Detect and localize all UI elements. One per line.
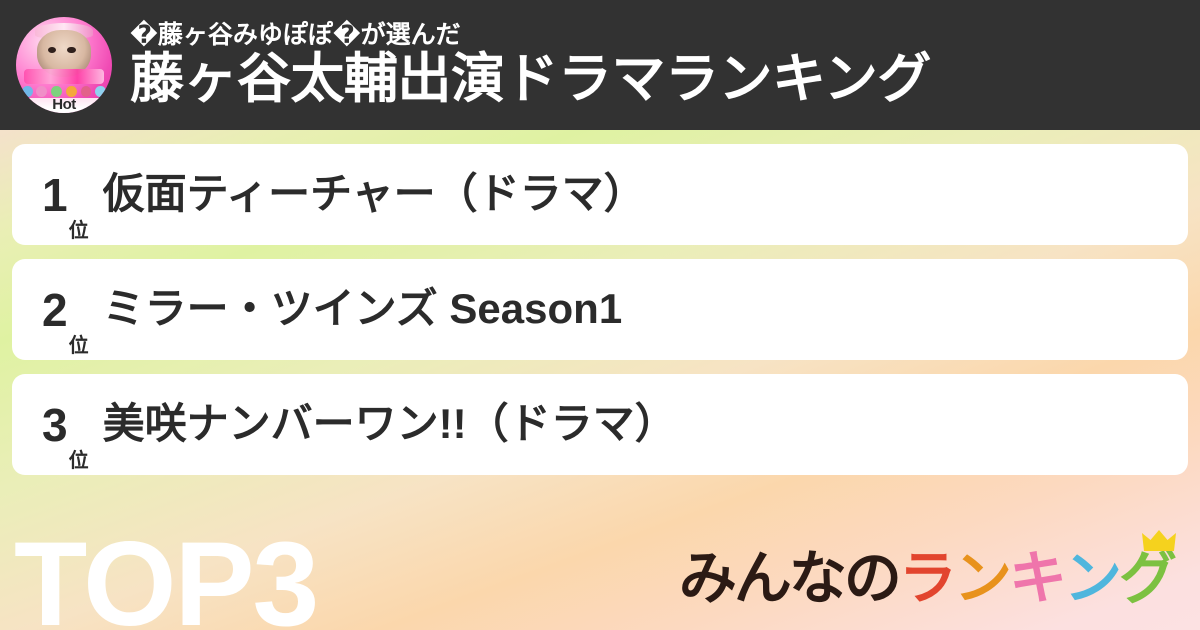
crown-icon xyxy=(1142,530,1176,552)
logo-gu-text: グ xyxy=(1119,546,1174,611)
top3-label: TOP3 xyxy=(14,524,317,630)
list-item[interactable]: 1 位 仮面ティーチャー（ドラマ） xyxy=(12,144,1188,245)
rank-suffix: 位 xyxy=(69,221,89,245)
rank-title: 仮面ティーチャー（ドラマ） xyxy=(103,171,646,217)
logo-part-n1: ン xyxy=(954,550,1009,608)
brand-logo: みんなの ラ ン キ ン グ xyxy=(679,538,1174,608)
logo-part-minnano: みんなの xyxy=(679,550,899,608)
list-item[interactable]: 3 位 美咲ナンバーワン!!（ドラマ） xyxy=(12,374,1188,475)
header-bar: Hot �藤ヶ谷みゆぽぽ�が選んだ 藤ヶ谷太輔出演ドラマランキング xyxy=(0,0,1200,130)
avatar-caption: Hot xyxy=(16,97,112,112)
ranking-share-card: Hot �藤ヶ谷みゆぽぽ�が選んだ 藤ヶ谷太輔出演ドラマランキング 1 位 仮面… xyxy=(0,0,1200,630)
logo-part-gu: グ xyxy=(1119,550,1174,608)
header-subtitle: �藤ヶ谷みゆぽぽ�が選んだ xyxy=(130,22,931,48)
logo-part-n2: ン xyxy=(1064,550,1119,608)
logo-part-ra: ラ xyxy=(899,550,954,608)
header-text-block: �藤ヶ谷みゆぽぽ�が選んだ 藤ヶ谷太輔出演ドラマランキング xyxy=(130,22,931,107)
rank-number: 1 xyxy=(42,172,68,218)
ranking-list: 1 位 仮面ティーチャー（ドラマ） 2 位 ミラー・ツインズ Season1 3… xyxy=(12,144,1188,489)
rank-suffix: 位 xyxy=(69,336,89,360)
page-title: 藤ヶ谷太輔出演ドラマランキング xyxy=(130,51,931,108)
logo-part-ki: キ xyxy=(1009,550,1064,608)
rank-title: 美咲ナンバーワン!!（ドラマ） xyxy=(103,401,677,447)
rank-number: 2 xyxy=(42,287,68,333)
rank-title: ミラー・ツインズ Season1 xyxy=(103,286,623,332)
rank-number: 3 xyxy=(42,402,68,448)
rank-suffix: 位 xyxy=(69,451,89,475)
avatar-banner xyxy=(24,69,105,84)
avatar: Hot xyxy=(16,17,112,113)
avatar-eye-right xyxy=(67,47,76,54)
list-item[interactable]: 2 位 ミラー・ツインズ Season1 xyxy=(12,259,1188,360)
